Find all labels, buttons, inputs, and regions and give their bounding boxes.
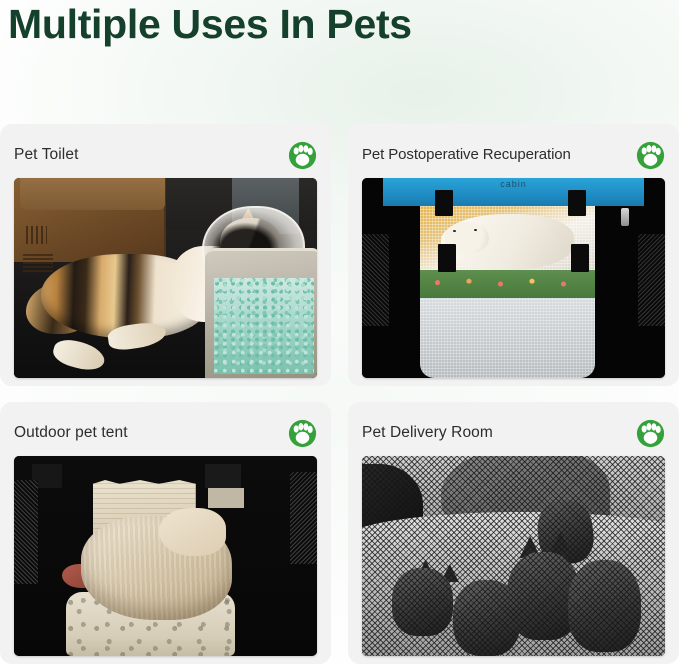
- carrier-brand-text: cabin: [362, 179, 665, 189]
- use-case-card-pet-toilet[interactable]: Pet Toilet: [0, 124, 331, 386]
- card-header: Pet Delivery Room: [362, 410, 665, 456]
- card-photo: cabin: [362, 178, 665, 378]
- card-header: Pet Postoperative Recuperation: [362, 132, 665, 178]
- card-photo: [362, 456, 665, 656]
- paw-icon: [288, 419, 317, 448]
- card-label: Pet Toilet: [14, 145, 78, 165]
- use-case-card-pet-postoperative-recuperation[interactable]: Pet Postoperative Recuperation cabin: [348, 124, 679, 386]
- page-title: Multiple Uses In Pets: [8, 0, 428, 49]
- card-header: Outdoor pet tent: [14, 410, 317, 456]
- use-case-grid: Pet Toilet: [0, 124, 679, 664]
- paw-icon: [636, 141, 665, 170]
- card-photo: [14, 456, 317, 656]
- card-label: Pet Postoperative Recuperation: [362, 145, 571, 165]
- use-case-card-outdoor-pet-tent[interactable]: Outdoor pet tent: [0, 402, 331, 664]
- paw-icon: [288, 141, 317, 170]
- card-label: Pet Delivery Room: [362, 423, 493, 443]
- use-case-card-pet-delivery-room[interactable]: Pet Delivery Room: [348, 402, 679, 664]
- infographic-page: Multiple Uses In Pets Pet Toilet: [0, 0, 679, 664]
- card-header: Pet Toilet: [14, 132, 317, 178]
- card-label: Outdoor pet tent: [14, 423, 128, 443]
- paw-icon: [636, 419, 665, 448]
- card-photo: [14, 178, 317, 378]
